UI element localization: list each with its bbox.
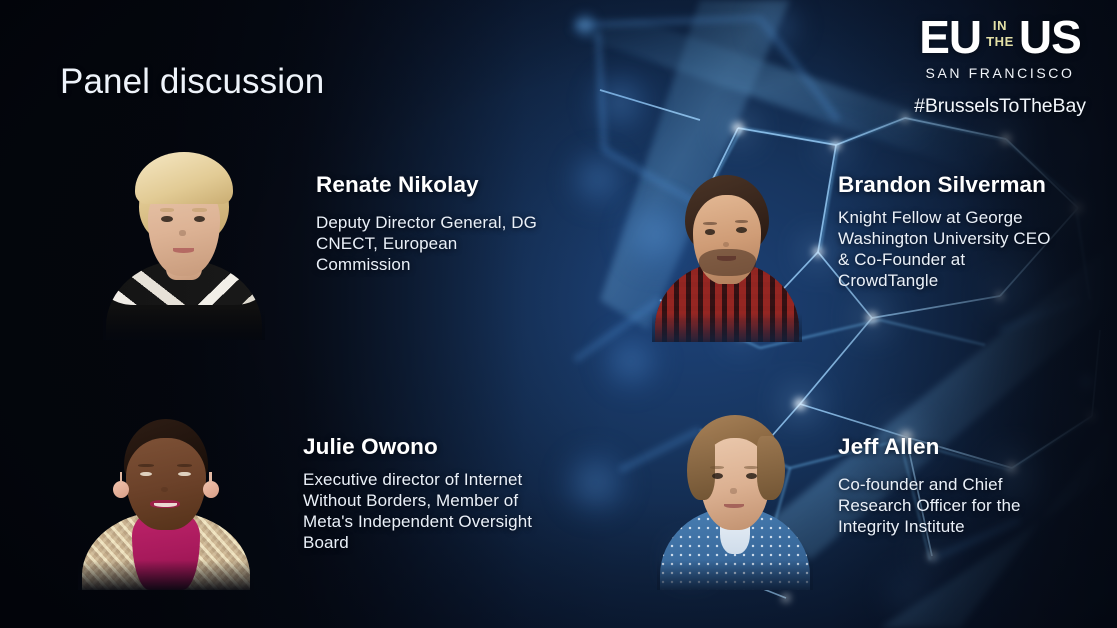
logo-wordmark: EU IN THE US	[905, 14, 1095, 60]
logo-inthe-group: IN THE	[986, 14, 1014, 48]
panelist-name: Brandon Silverman	[838, 172, 1053, 198]
panelist-photo-brandon-silverman	[652, 160, 802, 342]
panelist-name: Julie Owono	[303, 434, 533, 460]
page-title: Panel discussion	[60, 62, 324, 102]
panelist-info-jeff-allen: Jeff Allen Co-founder and Chief Research…	[838, 434, 1053, 537]
panelist-name: Jeff Allen	[838, 434, 1053, 460]
panelist-photo-julie-owono	[78, 402, 254, 590]
event-hashtag: #BrusselsToTheBay	[905, 95, 1095, 118]
panelist-photo-jeff-allen	[657, 402, 813, 590]
logo-the-text: THE	[986, 35, 1014, 48]
panelist-name: Renate Nikolay	[316, 172, 556, 198]
panelist-role: Knight Fellow at George Washington Unive…	[838, 207, 1053, 291]
logo-in-text: IN	[993, 19, 1007, 32]
panelist-info-julie-owono: Julie Owono Executive director of Intern…	[303, 434, 533, 553]
panelist-info-renate-nikolay: Renate Nikolay Deputy Director General, …	[316, 172, 556, 275]
eu-in-the-us-logo: EU IN THE US SAN FRANCISCO #BrusselsToTh…	[905, 14, 1095, 118]
presentation-slide: Panel discussion EU IN THE US SAN FRANCI…	[0, 0, 1117, 628]
panelist-role: Deputy Director General, DG CNECT, Europ…	[316, 212, 556, 275]
logo-city-text: SAN FRANCISCO	[905, 65, 1095, 81]
panelist-info-brandon-silverman: Brandon Silverman Knight Fellow at Georg…	[838, 172, 1053, 291]
logo-eu-text: EU	[919, 14, 981, 60]
panelist-photo-renate-nikolay	[103, 140, 265, 340]
logo-us-text: US	[1019, 14, 1081, 60]
panelist-role: Co-founder and Chief Research Officer fo…	[838, 474, 1053, 537]
panelist-role: Executive director of Internet Without B…	[303, 469, 533, 553]
